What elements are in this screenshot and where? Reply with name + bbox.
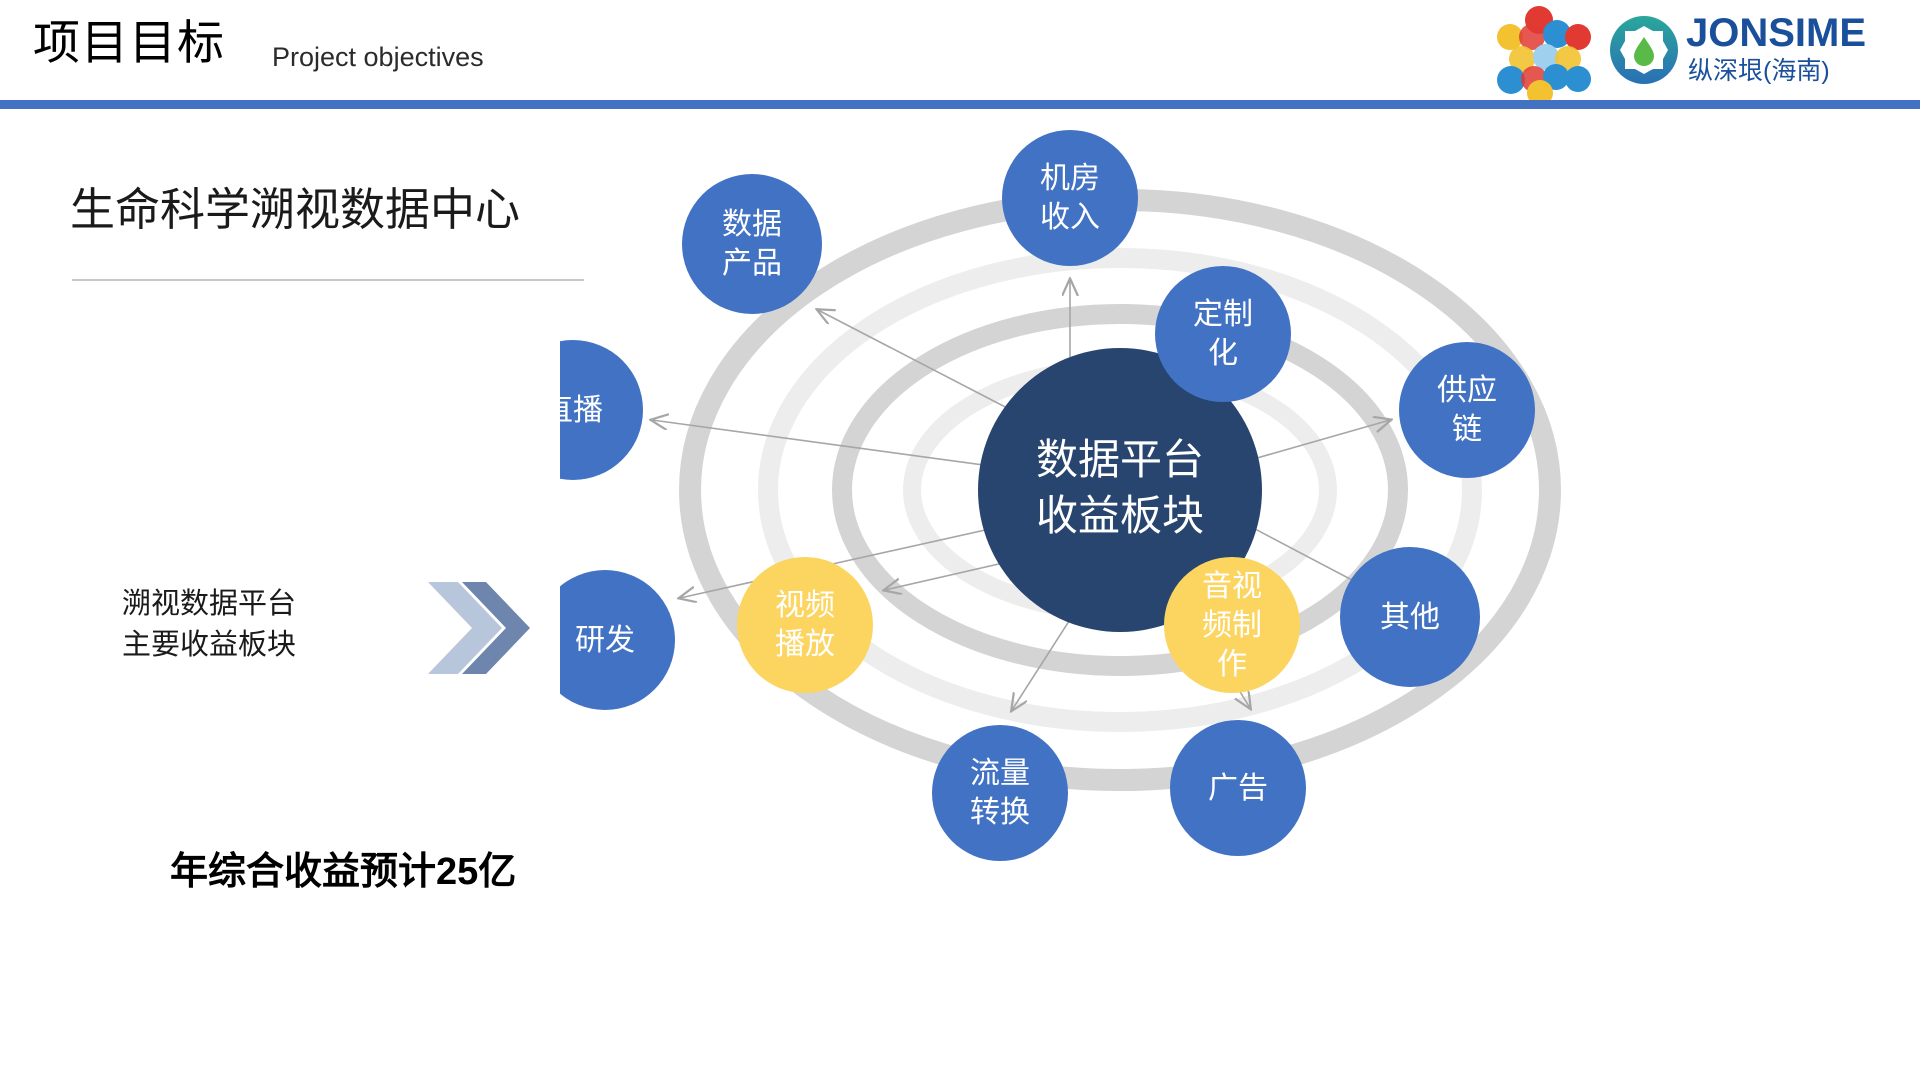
brand-logo: JONSIME 纵深垠(海南) <box>1608 8 1908 92</box>
node-shipin-bofang[interactable] <box>737 557 873 693</box>
node-liuliang-zhuanhuan[interactable] <box>932 725 1068 861</box>
water-drop-badge-icon <box>1608 14 1680 86</box>
revenue-segments-diagram: 数据平台 收益板块 机房 收入数据 产品定制 化供应 链直播其他研发视频 播放音… <box>560 120 1920 1080</box>
brand-wordmark: JONSIME <box>1686 10 1866 56</box>
node-dingzhihua[interactable] <box>1155 266 1291 402</box>
node-qita[interactable] <box>1340 547 1480 687</box>
brand-wordmark-zh: 纵深垠(海南) <box>1688 56 1830 86</box>
section-title: 生命科学溯视数据中心 <box>70 182 520 238</box>
node-zhibo[interactable] <box>560 340 643 480</box>
header-divider <box>0 100 1920 109</box>
node-shuju-chanpin[interactable] <box>682 174 822 314</box>
node-gongyinglian[interactable] <box>1399 342 1535 478</box>
section-title-underline <box>72 279 584 281</box>
subtitle-line-1: 溯视数据平台 <box>122 584 296 625</box>
node-yinshipin-zhizuo[interactable] <box>1164 557 1300 693</box>
node-guanggao[interactable] <box>1170 720 1306 856</box>
page-title: 项目目标 <box>33 14 225 72</box>
highlight-text: 年综合收益预计25亿 <box>170 848 516 896</box>
double-chevron-right-icon <box>428 578 546 678</box>
slide-header: 项目目标 Project objectives <box>0 0 1920 100</box>
diagram-canvas <box>560 120 1920 1080</box>
subtitle-block: 溯视数据平台 主要收益板块 <box>122 584 296 666</box>
subtitle-line-2: 主要收益板块 <box>122 625 296 666</box>
page-subtitle-en: Project objectives <box>272 42 484 72</box>
node-yanfa[interactable] <box>560 570 675 710</box>
node-jifang-shouru[interactable] <box>1002 130 1138 266</box>
dot-cluster-icon <box>1497 6 1597 94</box>
brand-wordmark-text: JONSIME <box>1686 11 1866 55</box>
